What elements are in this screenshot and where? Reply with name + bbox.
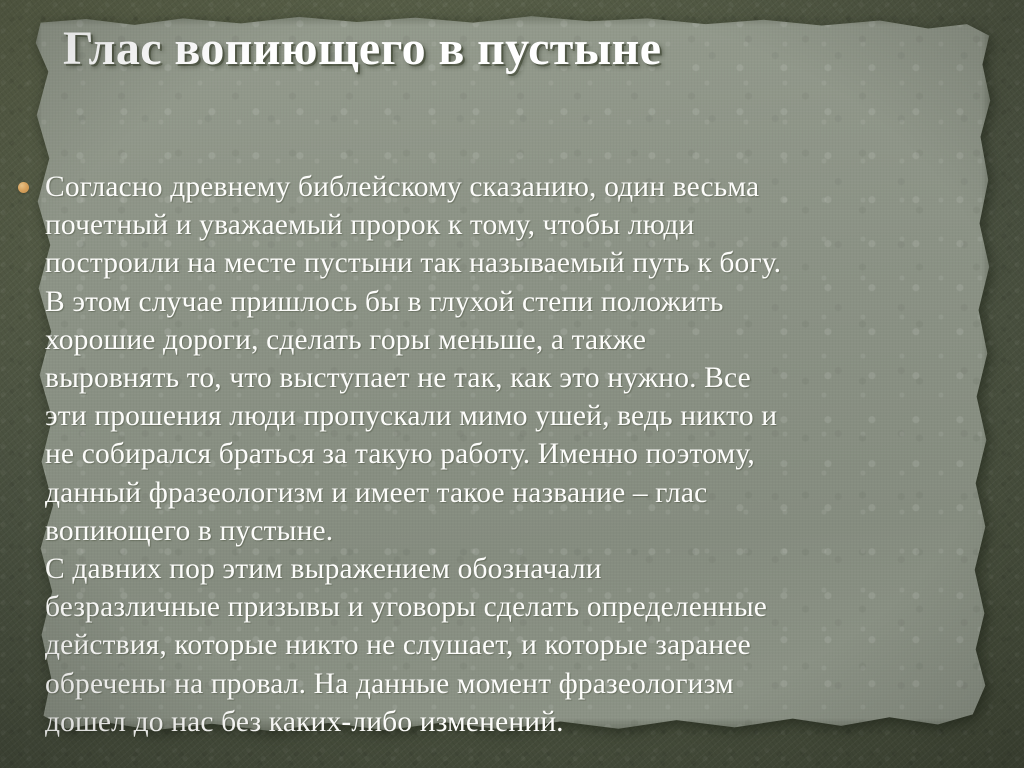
text-line: С давних пор этим выражением обозначали [45, 550, 974, 588]
text-line: эти прошения люди пропускали мимо ушей, … [45, 397, 974, 435]
slide-title: Глас вопиющего в пустыне [63, 22, 963, 76]
bullet-list-item: Согласно древнему библейскому сказанию, … [14, 168, 974, 741]
text-line: почетный и уважаемый пророк к тому, чтоб… [45, 206, 974, 244]
slide-canvas: Глас вопиющего в пустыне Согласно древне… [0, 0, 1024, 768]
text-line: выровнять то, что выступает не так, как … [45, 359, 974, 397]
text-line: не собирался браться за такую работу. Им… [45, 435, 974, 473]
text-line: В этом случае пришлось бы в глухой степи… [45, 283, 974, 321]
bullet-body-text: Согласно древнему библейскому сказанию, … [45, 168, 974, 741]
text-line: Согласно древнему библейскому сказанию, … [45, 168, 974, 206]
text-line: хорошие дороги, сделать горы меньше, а т… [45, 321, 974, 359]
text-line: данный фразеологизм и имеет такое назван… [45, 474, 974, 512]
text-line: обречены на провал. На данные момент фра… [45, 665, 974, 703]
text-line: безразличные призывы и уговоры сделать о… [45, 588, 974, 626]
text-line: дошел до нас без каких-либо изменений. [45, 703, 974, 741]
text-line: построили на месте пустыни так называемы… [45, 244, 974, 282]
text-line: действия, которые никто не слушает, и ко… [45, 626, 974, 664]
text-line: вопиющего в пустыне. [45, 512, 974, 550]
bullet-dot-icon [18, 182, 29, 193]
